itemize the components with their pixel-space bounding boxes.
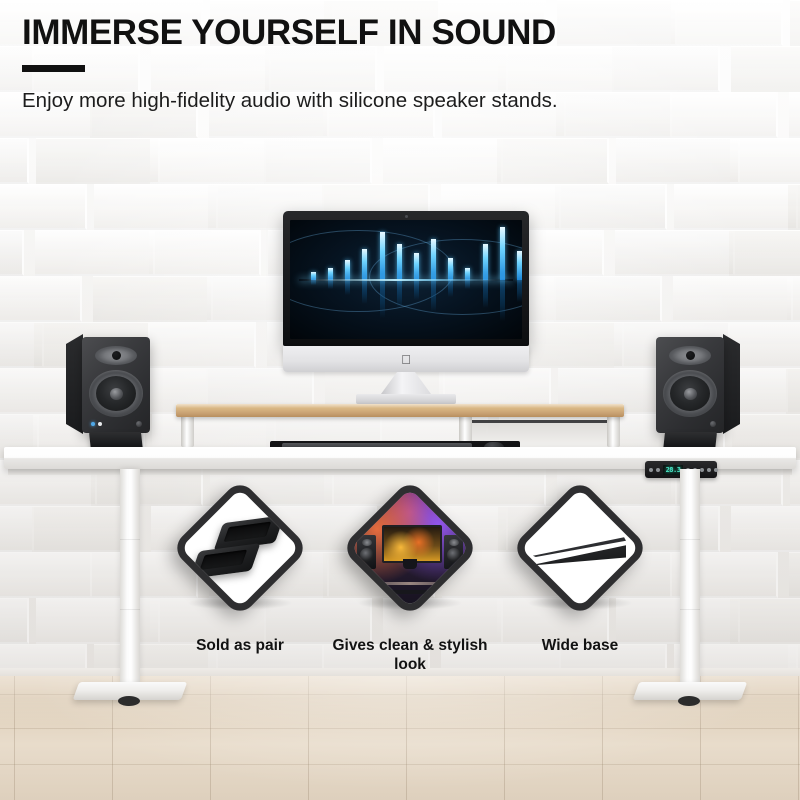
speaker-side-panel <box>723 334 740 434</box>
feature-card-sold-as-pair[interactable]: Sold as pair <box>165 508 315 640</box>
feature-card-wide-base[interactable]: Wide base <box>505 508 655 640</box>
equalizer-midline <box>299 279 512 281</box>
feature-label: Gives clean & stylish look <box>321 637 499 674</box>
tweeter-driver <box>95 346 137 365</box>
webcam-icon <box>405 215 408 218</box>
status-leds <box>91 422 102 426</box>
keypad-button-icon[interactable] <box>714 468 718 472</box>
riser-leg <box>607 417 620 447</box>
tweeter-driver <box>669 346 711 365</box>
accent-bar <box>22 65 85 72</box>
feature-card-stylish-look[interactable]: Gives clean & stylish look <box>335 508 485 640</box>
scene-speaker-right <box>444 535 463 569</box>
power-led-icon <box>91 422 95 426</box>
desk-leg-left <box>120 469 140 684</box>
feature-label: Sold as pair <box>151 637 329 656</box>
speaker-left <box>66 334 150 434</box>
desk-caster-right <box>678 696 700 706</box>
scene-monitor <box>382 525 442 563</box>
woofer-driver <box>89 370 143 417</box>
desk-leg-right <box>680 469 700 684</box>
wooden-monitor-riser <box>176 404 624 417</box>
wedge-stand-illustration <box>528 521 632 575</box>
desk-caster-left <box>118 696 140 706</box>
scene-monitor-stand <box>403 559 417 569</box>
riser-leg <box>181 417 194 447</box>
scene-keyboard <box>385 590 427 594</box>
speaker-right <box>656 334 740 434</box>
keypad-button-icon[interactable] <box>649 468 653 472</box>
volume-knob <box>136 421 142 427</box>
woofer-driver <box>663 370 717 417</box>
volume-knob <box>710 421 716 427</box>
speaker-side-panel <box>66 334 83 434</box>
monitor-chin:  <box>283 346 529 372</box>
header-block: IMMERSE YOURSELF IN SOUND Enjoy more hig… <box>22 14 782 114</box>
product-marketing-banner: IMMERSE YOURSELF IN SOUND Enjoy more hig… <box>0 0 800 800</box>
monitor-screen <box>290 220 522 339</box>
subheadline: Enjoy more high-fidelity audio with sili… <box>22 87 602 114</box>
apple-logo-icon:  <box>401 353 411 366</box>
speaker-front-baffle <box>82 337 150 433</box>
keypad-button-icon[interactable] <box>707 468 711 472</box>
imac-monitor <box>283 211 529 346</box>
page-title: IMMERSE YOURSELF IN SOUND <box>22 14 782 51</box>
feature-label: Wide base <box>491 637 669 656</box>
monitor-base <box>356 394 456 404</box>
keypad-button-icon[interactable] <box>656 468 660 472</box>
keypad-button-icon[interactable] <box>700 468 704 472</box>
indicator-led-icon <box>98 422 102 426</box>
scene-speaker-left <box>357 535 376 569</box>
stand-pair-illustration <box>186 509 294 587</box>
speaker-front-baffle <box>656 337 724 433</box>
